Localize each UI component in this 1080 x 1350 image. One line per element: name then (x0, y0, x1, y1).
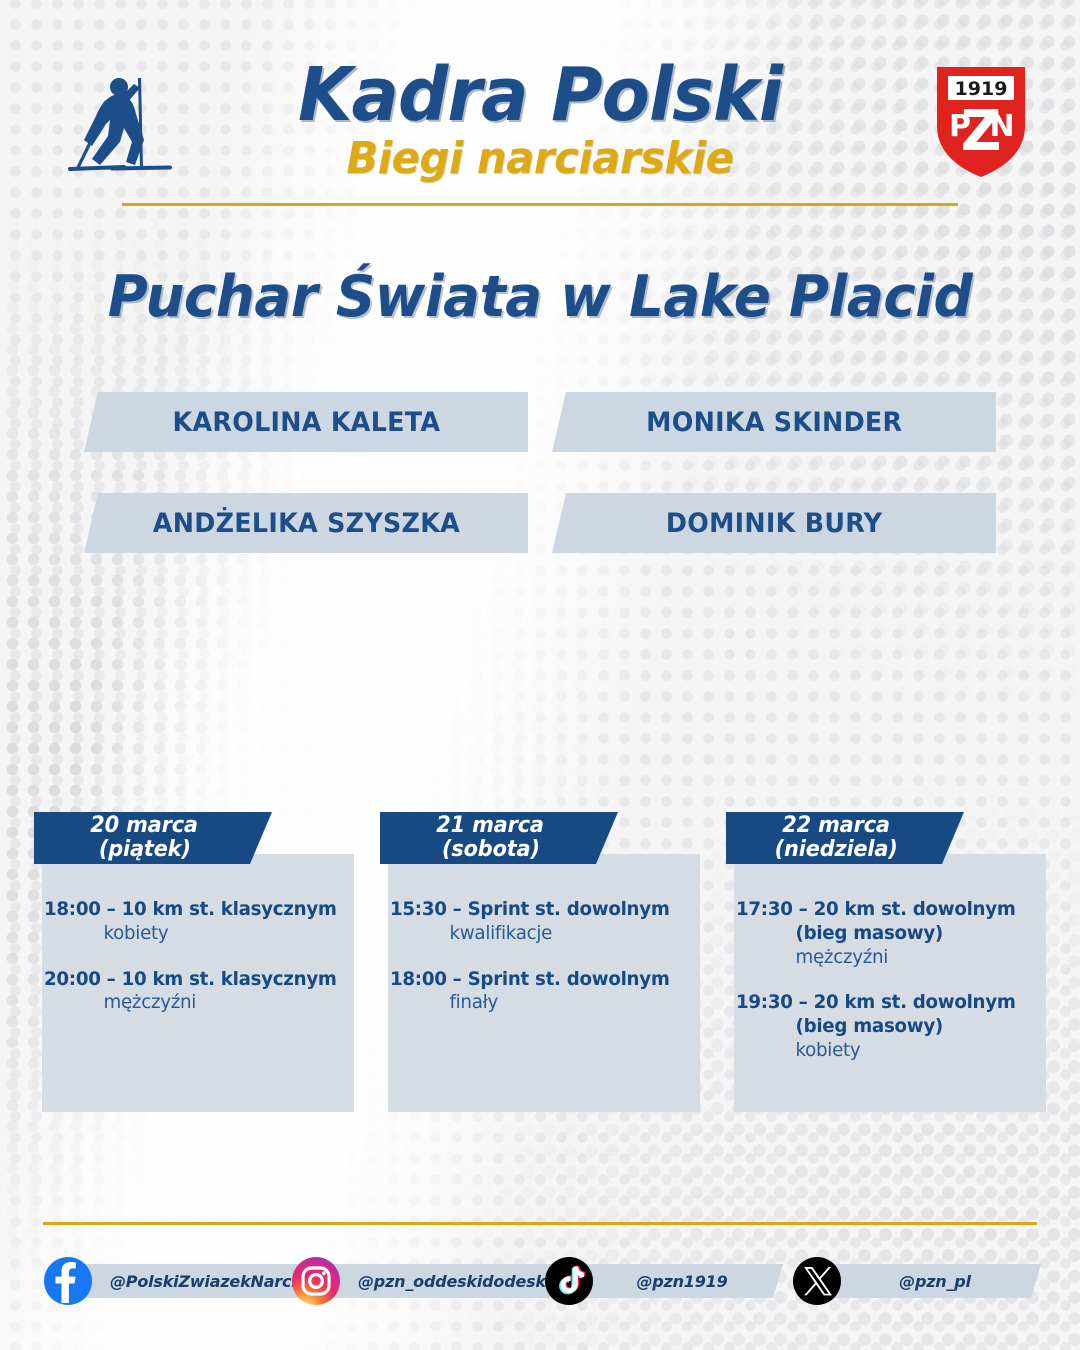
schedule-section: 20 marca (piątek) 18:00 – 10 km st. klas… (0, 812, 1080, 1132)
social-link-facebook[interactable]: @PolskiZwiazekNarciarski (44, 1255, 312, 1307)
poster-canvas: Kadra Polski Biegi narciarskie 1919 P N … (0, 0, 1080, 1350)
schedule-event: 17:30 – 20 km st. dowolnym (bieg masowy)… (736, 898, 1050, 969)
event-main: 18:00 – 10 km st. klasycznym (44, 898, 345, 922)
athlete-name: MONIKA SKINDER (646, 407, 902, 438)
schedule-weekday: (piątek) (99, 838, 191, 862)
social-bar: @PolskiZwiazekNarciarski @pzn_oddeskidod… (0, 1255, 1080, 1315)
athlete-name: ANDŻELIKA SZYSZKA (152, 508, 459, 539)
poster-header: Kadra Polski Biegi narciarskie 1919 P N … (0, 0, 1080, 215)
athlete-card[interactable]: KAROLINA KALETA (84, 392, 528, 452)
social-link-x[interactable]: @pzn_pl (793, 1255, 1041, 1307)
svg-text:1919: 1919 (955, 78, 1008, 100)
schedule-event: 18:00 – 10 km st. klasycznym kobiety (44, 898, 358, 946)
event-note: mężczyźni (44, 991, 345, 1015)
athlete-name: DOMINIK BURY (666, 508, 882, 539)
athlete-row: KAROLINA KALETA MONIKA SKINDER (0, 392, 1080, 452)
schedule-date: 21 marca (437, 814, 545, 838)
event-main: 20:00 – 10 km st. klasycznym (44, 968, 345, 992)
athlete-card[interactable]: DOMINIK BURY (552, 493, 996, 553)
tiktok-icon (545, 1257, 593, 1305)
schedule-event: 15:30 – Sprint st. dowolnym kwalifikacje (390, 898, 704, 946)
event-note: mężczyźni (736, 946, 1037, 970)
facebook-icon (44, 1257, 92, 1305)
event-note: kwalifikacje (390, 922, 691, 946)
title-block: Kadra Polski Biegi narciarskie (190, 58, 890, 184)
athlete-card[interactable]: ANDŻELIKA SZYSZKA (84, 493, 528, 553)
schedule-event: 18:00 – Sprint st. dowolnym finały (390, 968, 704, 1016)
schedule-day-header: 22 marca (niedziela) (726, 812, 964, 864)
event-main: 18:00 – Sprint st. dowolnym (390, 968, 691, 992)
svg-text:Z: Z (961, 99, 1002, 164)
schedule-event-list: 15:30 – Sprint st. dowolnym kwalifikacje… (390, 898, 704, 1037)
athlete-row: ANDŻELIKA SZYSZKA DOMINIK BURY (0, 493, 1080, 553)
event-note: kobiety (736, 1039, 1037, 1063)
event-note: kobiety (44, 922, 345, 946)
schedule-day-header: 21 marca (sobota) (380, 812, 618, 864)
x-twitter-icon (793, 1257, 841, 1305)
schedule-event: 20:00 – 10 km st. klasycznym mężczyźni (44, 968, 358, 1016)
athlete-list: KAROLINA KALETA MONIKA SKINDER ANDŻELIKA… (0, 392, 1080, 594)
event-main: 17:30 – 20 km st. dowolnym (736, 898, 1037, 922)
social-link-instagram[interactable]: @pzn_oddeskidodeski (292, 1255, 564, 1307)
main-title: Kadra Polski (208, 58, 873, 133)
social-handle: @pzn1919 (577, 1264, 783, 1298)
event-sub: (bieg masowy) (736, 922, 1037, 946)
social-handle: @pzn_oddeskidodeski (324, 1264, 564, 1298)
athlete-card[interactable]: MONIKA SKINDER (552, 392, 996, 452)
event-sub: (bieg masowy) (736, 1015, 1037, 1039)
schedule-weekday: (niedziela) (775, 838, 898, 862)
schedule-event-list: 17:30 – 20 km st. dowolnym (bieg masowy)… (736, 898, 1050, 1085)
cross-country-skier-icon (62, 62, 182, 182)
social-handle: @PolskiZwiazekNarciarski (76, 1264, 312, 1298)
schedule-event-list: 18:00 – 10 km st. klasycznym kobiety 20:… (44, 898, 358, 1037)
social-link-tiktok[interactable]: @pzn1919 (545, 1255, 783, 1307)
schedule-date: 20 marca (91, 814, 199, 838)
footer-divider (43, 1222, 1037, 1225)
schedule-date: 22 marca (783, 814, 891, 838)
social-handle: @pzn_pl (825, 1264, 1041, 1298)
schedule-event: 19:30 – 20 km st. dowolnym (bieg masowy)… (736, 991, 1050, 1062)
pzn-shield-logo: 1919 P N Z (934, 64, 1028, 180)
header-divider (122, 203, 958, 206)
event-note: finały (390, 991, 691, 1015)
event-main: 19:30 – 20 km st. dowolnym (736, 991, 1037, 1015)
schedule-day-header: 20 marca (piątek) (34, 812, 272, 864)
event-main: 15:30 – Sprint st. dowolnym (390, 898, 691, 922)
event-title: Puchar Świata w Lake Placid (22, 264, 1059, 330)
schedule-weekday: (sobota) (442, 838, 540, 862)
athlete-name: KAROLINA KALETA (172, 407, 440, 438)
instagram-icon (292, 1257, 340, 1305)
sub-title: Biegi narciarskie (208, 135, 873, 183)
